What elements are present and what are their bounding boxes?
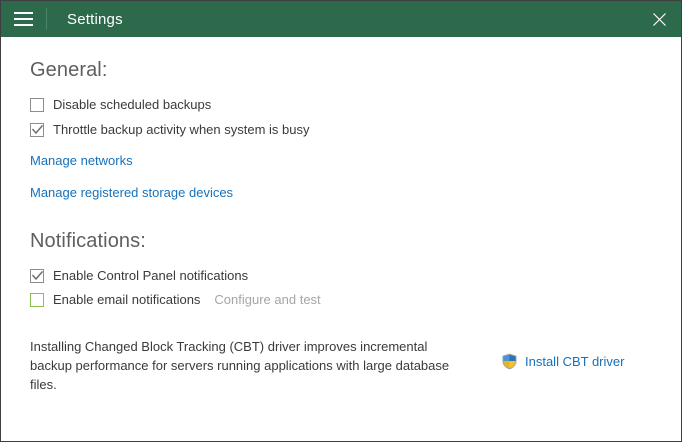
checkbox-enable-control-panel-notifications[interactable] xyxy=(30,269,44,283)
checkbox-label: Disable scheduled backups xyxy=(53,98,211,112)
checkbox-disable-scheduled-backups[interactable] xyxy=(30,98,44,112)
link-manage-registered-storage-devices[interactable]: Manage registered storage devices xyxy=(30,185,233,200)
notifications-section-heading: Notifications: xyxy=(30,230,653,253)
checkbox-row-enable-control-panel-notifications[interactable]: Enable Control Panel notifications xyxy=(30,269,248,283)
close-icon xyxy=(652,12,667,27)
hamburger-bar xyxy=(14,24,33,26)
checkbox-throttle-backup-activity[interactable] xyxy=(30,123,44,137)
general-section-heading: General: xyxy=(30,59,653,82)
settings-content: General: Disable scheduled backups Throt… xyxy=(1,37,681,394)
install-cbt-driver-button[interactable]: Install CBT driver xyxy=(501,353,624,370)
hamburger-menu-icon[interactable] xyxy=(1,1,45,37)
uac-shield-icon xyxy=(501,353,518,370)
checkbox-row-enable-email-notifications[interactable]: Enable email notifications Configure and… xyxy=(30,292,321,307)
link-manage-networks[interactable]: Manage networks xyxy=(30,153,133,168)
settings-window: Settings General: Disable scheduled back… xyxy=(0,0,682,442)
checkbox-label: Throttle backup activity when system is … xyxy=(53,123,310,137)
link-configure-and-test[interactable]: Configure and test xyxy=(214,292,320,307)
checkbox-row-disable-scheduled-backups[interactable]: Disable scheduled backups xyxy=(30,98,211,112)
checkmark-icon xyxy=(32,125,43,135)
title-bar: Settings xyxy=(1,1,681,37)
hamburger-bar xyxy=(14,18,33,20)
close-button[interactable] xyxy=(637,1,681,37)
checkmark-icon xyxy=(32,271,43,281)
checkbox-row-throttle-backup-activity[interactable]: Throttle backup activity when system is … xyxy=(30,123,310,137)
checkbox-enable-email-notifications[interactable] xyxy=(30,293,44,307)
cbt-driver-block: Installing Changed Block Tracking (CBT) … xyxy=(30,337,653,394)
checkbox-label: Enable email notifications xyxy=(53,293,200,307)
cbt-description: Installing Changed Block Tracking (CBT) … xyxy=(30,337,454,394)
install-cbt-driver-label: Install CBT driver xyxy=(525,354,624,369)
section-spacer xyxy=(30,200,653,230)
hamburger-bar xyxy=(14,12,33,14)
titlebar-divider xyxy=(46,8,47,30)
window-title: Settings xyxy=(67,11,123,28)
checkbox-label: Enable Control Panel notifications xyxy=(53,269,248,283)
